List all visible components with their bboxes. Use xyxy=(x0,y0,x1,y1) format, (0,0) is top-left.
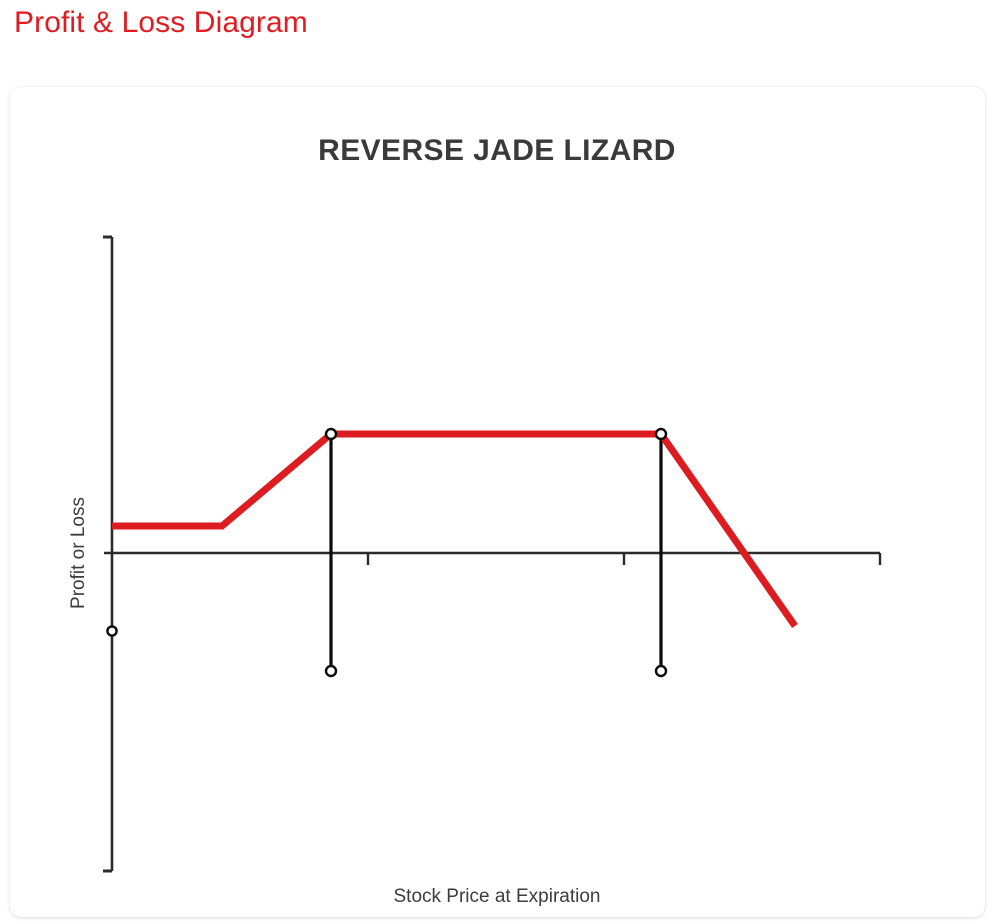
marker-strike-2-bottom xyxy=(656,666,666,676)
y-axis-label: Profit or Loss xyxy=(68,497,89,609)
chart-card: REVERSE JADE LIZARD Profit or Loss Stock… xyxy=(10,87,985,917)
x-axis-label: Stock Price at Expiration xyxy=(394,886,601,907)
profit-loss-chart: REVERSE JADE LIZARD Profit or Loss Stock… xyxy=(10,87,985,917)
marker-strike-1-bottom xyxy=(326,666,336,676)
marker-strike-2-top xyxy=(656,429,666,439)
page-root: Profit & Loss Diagram REVERSE JADE LIZAR… xyxy=(0,0,996,924)
marker-y-axis-reference-point xyxy=(107,626,116,635)
x-axis-ticks xyxy=(368,553,880,565)
chart-axes xyxy=(103,237,880,871)
chart-title: REVERSE JADE LIZARD xyxy=(318,134,676,167)
marker-strike-1-top xyxy=(326,429,336,439)
page-title: Profit & Loss Diagram xyxy=(14,6,308,40)
payoff-curve xyxy=(112,434,795,626)
